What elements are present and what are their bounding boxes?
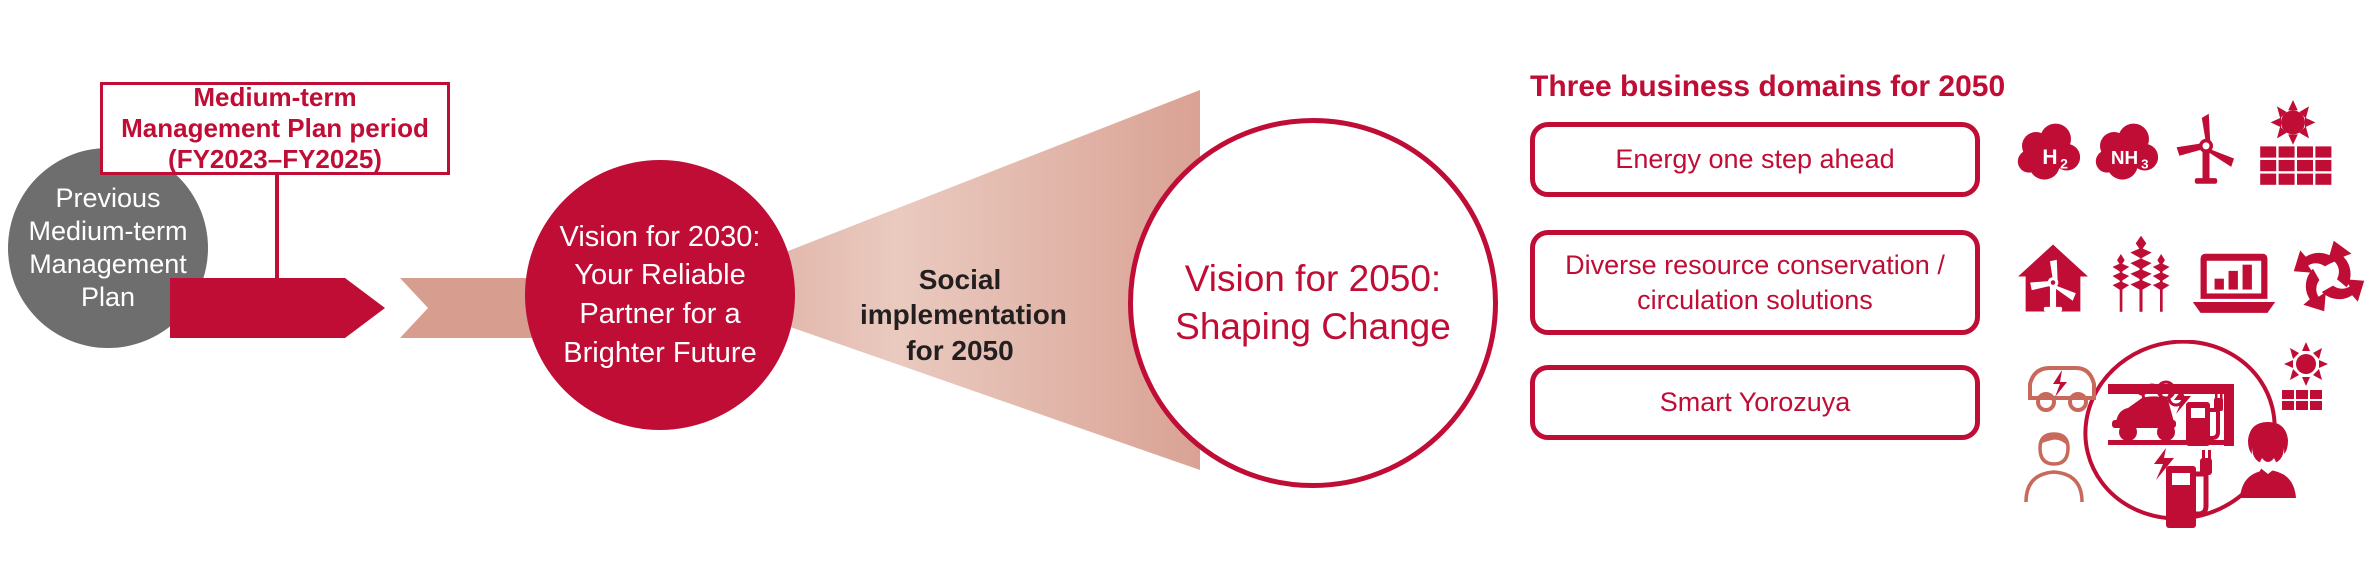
svg-text:2: 2 <box>2060 155 2068 171</box>
vision-2050-label: Vision for 2050: Shaping Change <box>1175 255 1451 351</box>
person-male-icon <box>2026 434 2082 502</box>
vision-2030-label: Vision for 2030: Your Reliable Partner f… <box>560 218 761 372</box>
svg-text:3: 3 <box>2141 156 2148 171</box>
solar-panel-sun-icon <box>2249 100 2337 188</box>
domain-box-smart[interactable]: Smart Yorozuya <box>1530 365 1980 440</box>
domain-label-smart: Smart Yorozuya <box>1660 385 1851 420</box>
house-wind-turbine-icon <box>2015 240 2091 316</box>
hydrogen-cloud-icon: H 2 <box>2015 118 2085 188</box>
diagram-canvas: Previous Medium-term Management Plan Med… <box>0 0 2370 565</box>
previous-plan-label: Previous Medium-term Management Plan <box>28 182 187 315</box>
arrow-current-period <box>170 278 385 338</box>
electric-car-icon <box>2030 368 2094 410</box>
smart-yorozuya-icon-cluster <box>2000 340 2360 540</box>
business-domains-title: Three business domains for 2050 <box>1530 70 2005 104</box>
domain-label-energy: Energy one step ahead <box>1615 142 1894 177</box>
energy-icon-cluster: H 2 NH 3 <box>2015 100 2337 188</box>
svg-text:H: H <box>2042 146 2057 169</box>
medium-term-plan-callout: Medium-term Management Plan period (FY20… <box>100 82 450 175</box>
wheat-stalks-icon <box>2103 230 2179 316</box>
vision-2050-circle: Vision for 2050: Shaping Change <box>1128 118 1498 488</box>
laptop-bar-chart-icon <box>2191 246 2277 316</box>
car-refuel-station-icon <box>2108 382 2234 446</box>
resource-icon-cluster <box>2015 230 2369 316</box>
business-domains-panel: Three business domains for 2050 Energy o… <box>1530 70 2370 550</box>
vision-2030-circle: Vision for 2030: Your Reliable Partner f… <box>525 160 795 430</box>
social-implementation-text: Social implementation for 2050 <box>860 262 1060 368</box>
solar-panel-sun-icon <box>2282 342 2328 410</box>
ammonia-cloud-icon: NH 3 <box>2093 118 2163 188</box>
wind-turbine-icon <box>2171 108 2241 188</box>
svg-text:NH: NH <box>2111 148 2138 169</box>
domain-box-energy[interactable]: Energy one step ahead <box>1530 122 1980 197</box>
callout-leader-line <box>275 175 279 285</box>
domain-label-resource: Diverse resource conservation / circulat… <box>1565 248 1945 317</box>
person-female-icon <box>2240 422 2296 498</box>
medium-term-plan-label: Medium-term Management Plan period (FY20… <box>121 82 429 176</box>
social-implementation-label: Social implementation for 2050 <box>860 262 1060 368</box>
recycle-arrows-icon <box>2289 236 2369 316</box>
bolt-icon <box>2053 370 2067 397</box>
domain-box-resource[interactable]: Diverse resource conservation / circulat… <box>1530 230 1980 335</box>
